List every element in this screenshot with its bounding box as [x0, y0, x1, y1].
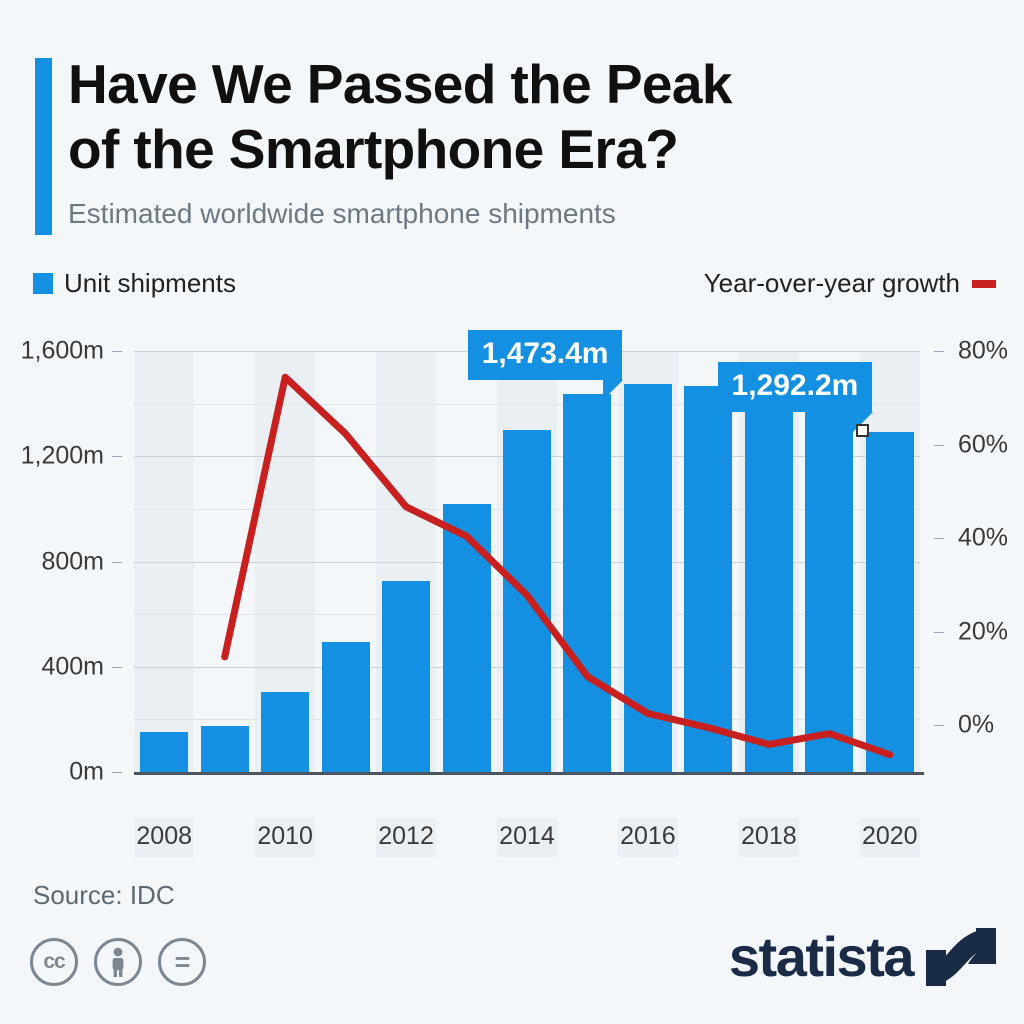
y-axis-right-label: 20% [958, 617, 1008, 646]
legend-swatch-line-icon [972, 280, 996, 288]
legend-item-unit-shipments[interactable]: Unit shipments [33, 268, 236, 299]
y-axis-right-tick [934, 538, 944, 539]
legend-item-yoy-growth[interactable]: Year-over-year growth [704, 268, 996, 299]
chart-area: 0m400m800m1,200m1,600m 0%20%40%60%80% 20… [0, 330, 1024, 870]
statista-logo[interactable]: statista [729, 928, 996, 986]
x-axis-label-2014: 2014 [497, 818, 557, 857]
person-glyph [106, 946, 130, 978]
x-axis-label-2016: 2016 [618, 818, 678, 857]
y-axis-left-tick [112, 351, 122, 352]
callout-marker [856, 424, 869, 437]
y-axis-left-tick [112, 456, 122, 457]
y-axis-right-tick [934, 445, 944, 446]
title-line-2: of the Smartphone Era? [68, 117, 948, 182]
y-axis-left-label: 400m [0, 652, 104, 681]
x-axis-label-2012: 2012 [376, 818, 436, 857]
y-axis-left-tick [112, 667, 122, 668]
y-axis-right: 0%20%40%60%80% [934, 351, 1024, 772]
y-axis-right-label: 0% [958, 711, 994, 740]
source-note: Source: IDC [33, 880, 175, 911]
yoy-growth-polyline [225, 377, 890, 755]
cc-noderivs-label: = [175, 947, 190, 978]
x-axis-label-2010: 2010 [255, 818, 315, 857]
page-subtitle: Estimated worldwide smartphone shipments [68, 198, 968, 230]
y-axis-right-tick [934, 725, 944, 726]
y-axis-right-label: 40% [958, 524, 1008, 553]
title-accent-bar [35, 58, 52, 235]
y-axis-left-tick [112, 772, 122, 773]
y-axis-left-label: 800m [0, 547, 104, 576]
y-axis-left-label: 1,200m [0, 442, 104, 471]
y-axis-right-label: 60% [958, 430, 1008, 459]
y-axis-left-label: 1,600m [0, 337, 104, 366]
legend-swatch-bar-icon [33, 273, 53, 294]
title-line-1: Have We Passed the Peak [68, 52, 948, 117]
header: Have We Passed the Peak of the Smartphon… [0, 0, 1024, 250]
zero-baseline [134, 772, 924, 775]
legend-label-yoy-growth: Year-over-year growth [704, 268, 960, 299]
cc-license-label: cc [43, 950, 64, 974]
y-axis-right-label: 80% [958, 337, 1008, 366]
statista-mark-icon [926, 928, 996, 986]
yoy-growth-line-series [134, 351, 920, 851]
creative-commons-icons: cc = [30, 938, 206, 986]
y-axis-left: 0m400m800m1,200m1,600m [10, 351, 122, 772]
callout-tail-2016 [603, 380, 623, 400]
callout-2016: 1,473.4m [468, 330, 623, 380]
plot-area [134, 351, 920, 772]
legend-label-unit-shipments: Unit shipments [64, 268, 236, 299]
y-axis-right-tick [934, 632, 944, 633]
y-axis-left-tick [112, 562, 122, 563]
cc-noderivatives-icon[interactable]: = [158, 938, 206, 986]
y-axis-left-label: 0m [0, 758, 104, 787]
x-axis-label-2008: 2008 [134, 818, 194, 857]
y-axis-right-tick [934, 351, 944, 352]
page-title: Have We Passed the Peak of the Smartphon… [68, 52, 948, 182]
callout-2020: 1,292.2m [718, 362, 873, 412]
cc-license-icon[interactable]: cc [30, 938, 78, 986]
x-axis-label-2020: 2020 [860, 818, 920, 857]
x-axis: 2008201020122014201620182020 [134, 818, 924, 862]
statista-wordmark: statista [729, 929, 913, 985]
chart-legend: Unit shipments Year-over-year growth [0, 268, 1024, 310]
cc-attribution-icon[interactable] [94, 938, 142, 986]
x-axis-label-2018: 2018 [739, 818, 799, 857]
